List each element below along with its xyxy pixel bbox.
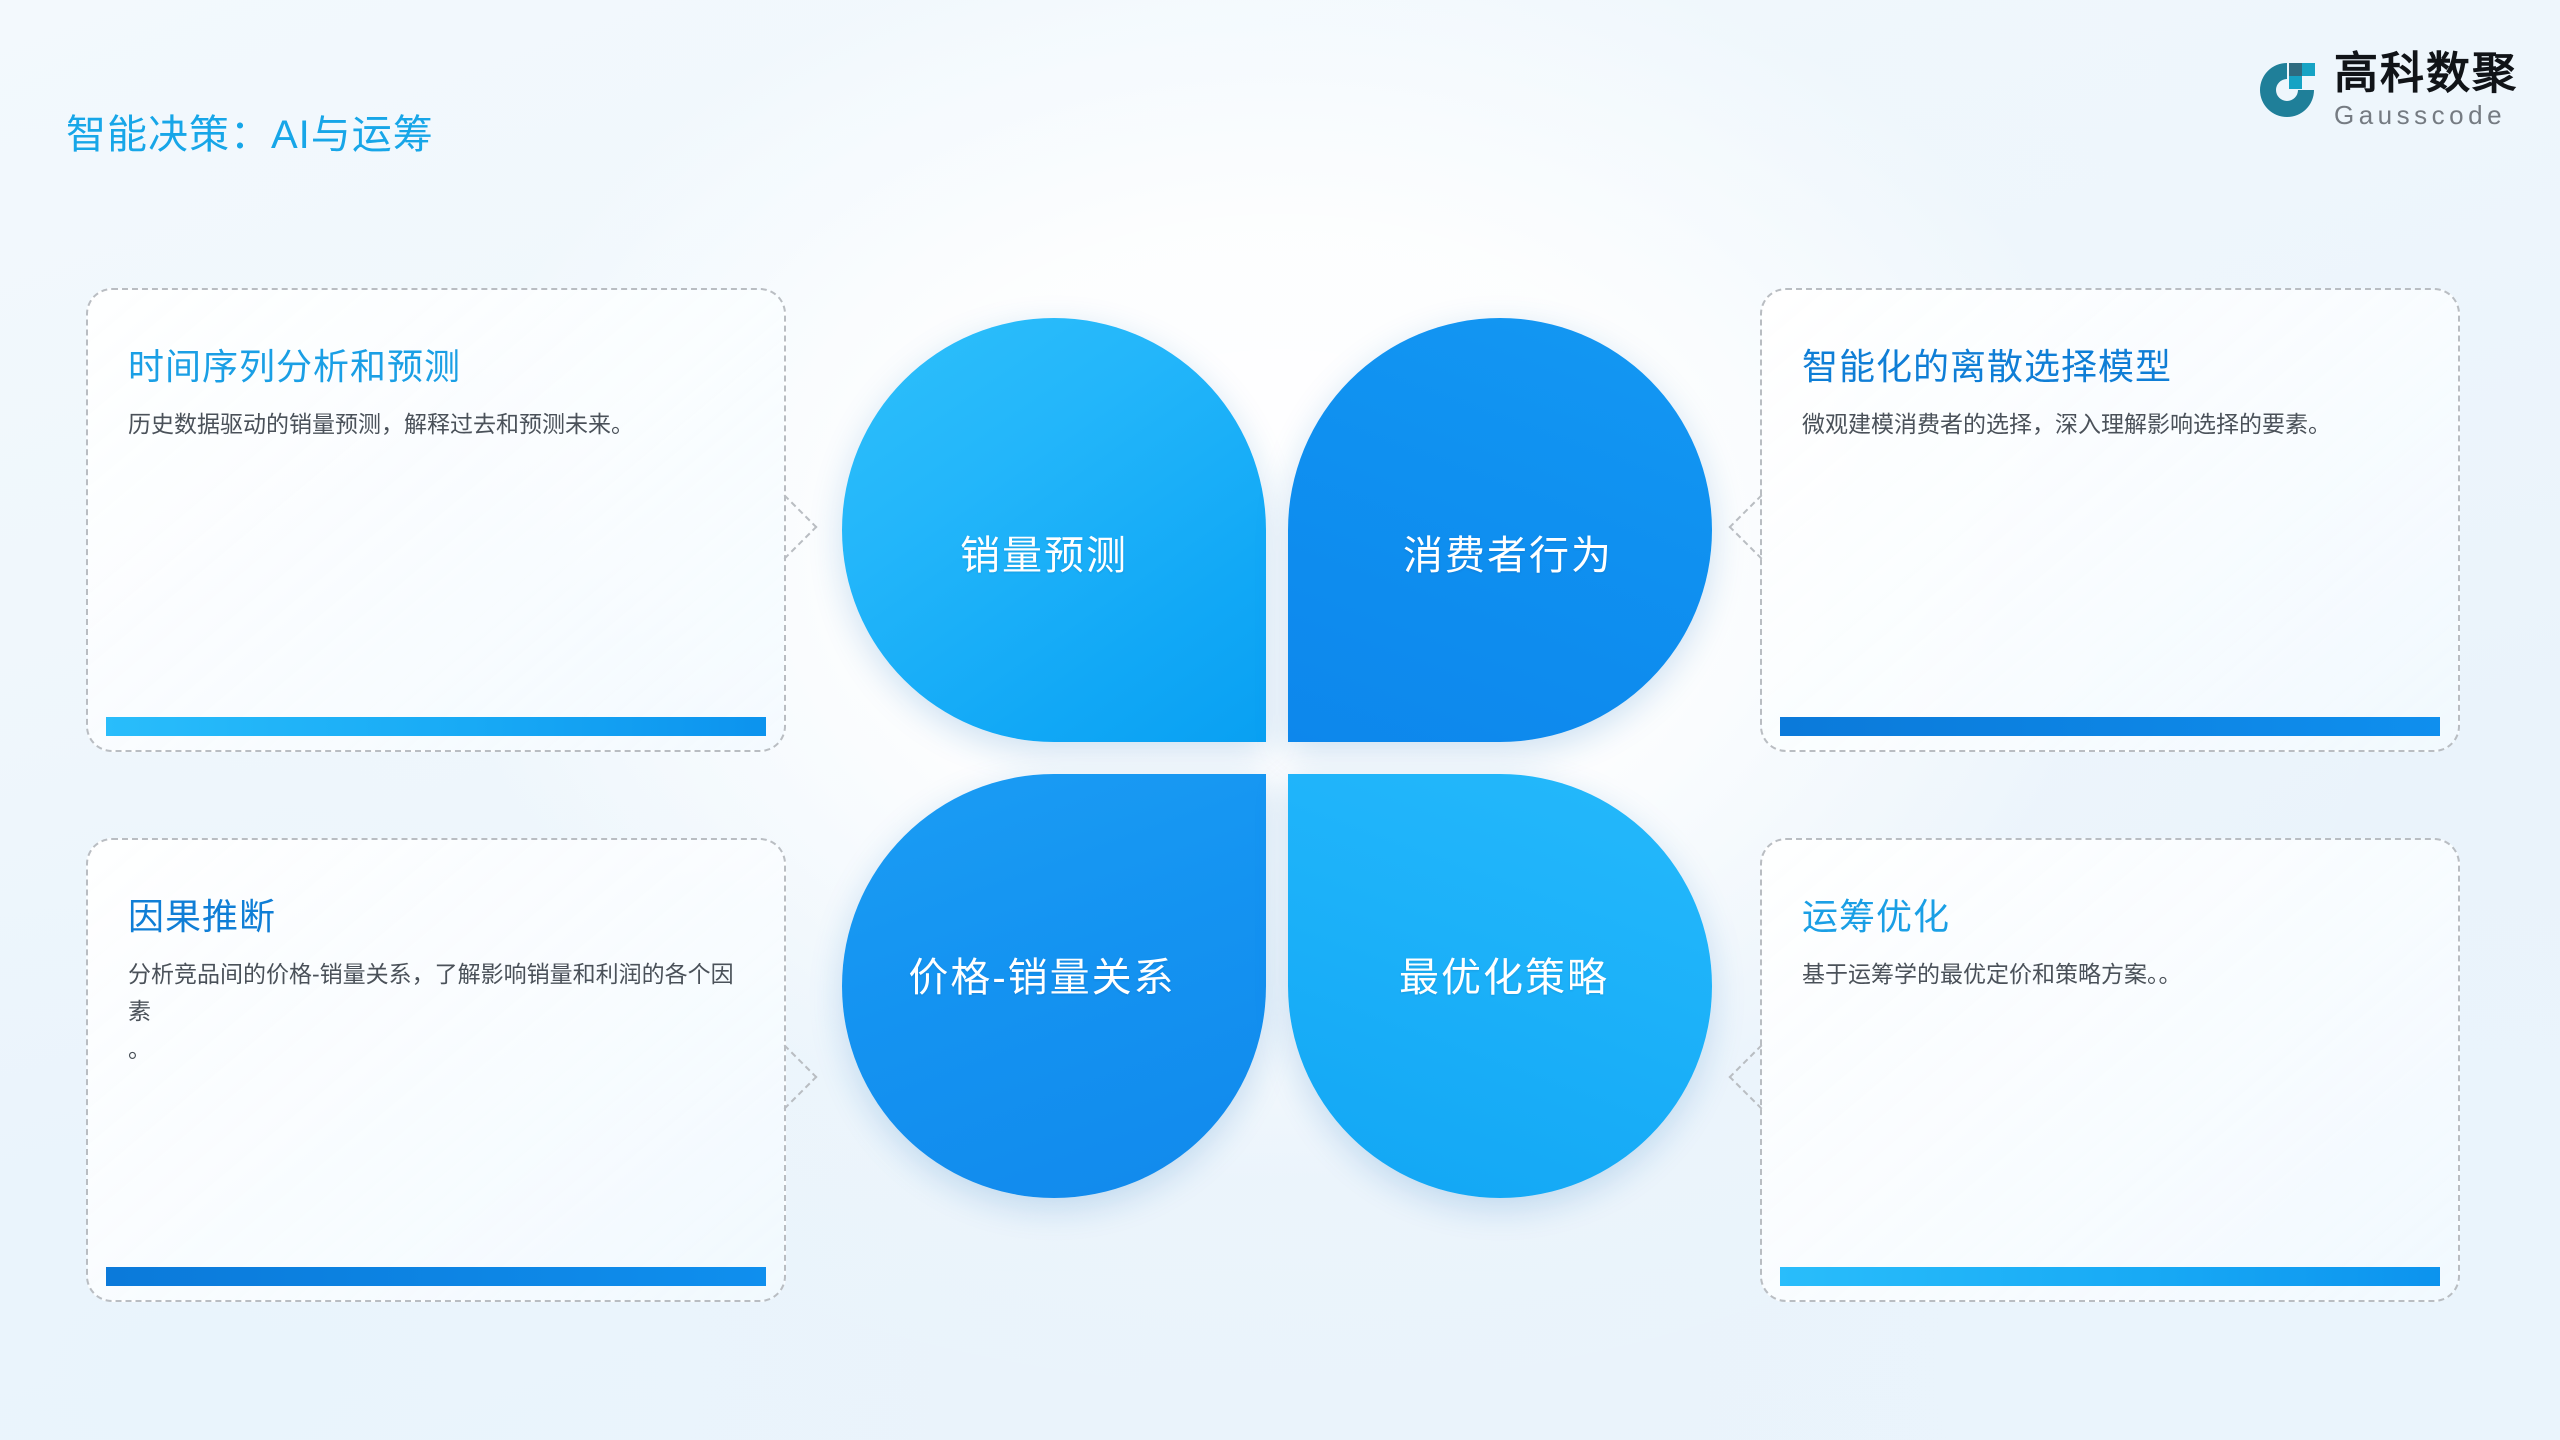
petal-consumer-behavior[interactable]: 消费者行为 bbox=[1288, 318, 1712, 742]
petal-optimal-strategy[interactable]: 最优化策略 bbox=[1288, 774, 1712, 1198]
card-description: 分析竞品间的价格-销量关系，了解影响销量和利润的各个因素 。 bbox=[128, 956, 744, 1068]
card-title: 运筹优化 bbox=[1802, 888, 2418, 940]
petal-label: 销量预测 bbox=[960, 523, 1128, 581]
card-accent-bar bbox=[1780, 1267, 2440, 1286]
card-body: 时间序列分析和预测 历史数据驱动的销量预测，解释过去和预测未来。 bbox=[88, 290, 784, 443]
card-body: 因果推断 分析竞品间的价格-销量关系，了解影响销量和利润的各个因素 。 bbox=[88, 840, 784, 1068]
logo-name-en: Gausscode bbox=[2334, 102, 2518, 128]
card-description: 微观建模消费者的选择，深入理解影响选择的要素。 bbox=[1802, 406, 2418, 443]
card-accent-bar bbox=[106, 717, 766, 736]
petal-label: 最优化策略 bbox=[1399, 945, 1609, 1003]
card-accent-bar bbox=[1780, 717, 2440, 736]
card-operations-optimization[interactable]: 运筹优化 基于运筹学的最优定价和策略方案。。 bbox=[1760, 838, 2460, 1302]
chevron-right-icon bbox=[752, 494, 817, 559]
petal-label: 消费者行为 bbox=[1403, 523, 1613, 581]
card-causal-inference[interactable]: 因果推断 分析竞品间的价格-销量关系，了解影响销量和利润的各个因素 。 bbox=[86, 838, 786, 1302]
card-body: 运筹优化 基于运筹学的最优定价和策略方案。。 bbox=[1762, 840, 2458, 993]
card-title: 时间序列分析和预测 bbox=[128, 338, 744, 390]
gausscode-g-logo-icon bbox=[2256, 59, 2318, 121]
card-accent-bar bbox=[106, 1267, 766, 1286]
brand-logo: 高科数聚 Gausscode bbox=[2256, 52, 2518, 128]
chevron-left-icon bbox=[1728, 494, 1793, 559]
card-body: 智能化的离散选择模型 微观建模消费者的选择，深入理解影响选择的要素。 bbox=[1762, 290, 2458, 443]
slide-canvas: 智能决策：AI与运筹 高科数聚 Gausscode 销量预测 消费者行为 价格-… bbox=[0, 0, 2560, 1440]
card-description: 基于运筹学的最优定价和策略方案。。 bbox=[1802, 956, 2418, 993]
chevron-left-icon bbox=[1728, 1044, 1793, 1109]
petal-price-sales-relation[interactable]: 价格-销量关系 bbox=[842, 774, 1266, 1198]
card-discrete-choice[interactable]: 智能化的离散选择模型 微观建模消费者的选择，深入理解影响选择的要素。 bbox=[1760, 288, 2460, 752]
logo-name-cn: 高科数聚 bbox=[2334, 52, 2518, 96]
card-time-series[interactable]: 时间序列分析和预测 历史数据驱动的销量预测，解释过去和预测未来。 bbox=[86, 288, 786, 752]
logo-wordmark: 高科数聚 Gausscode bbox=[2334, 52, 2518, 128]
page-title: 智能决策：AI与运筹 bbox=[66, 102, 434, 160]
card-title: 因果推断 bbox=[128, 888, 744, 940]
card-description: 历史数据驱动的销量预测，解释过去和预测未来。 bbox=[128, 406, 744, 443]
center-clover-diagram: 销量预测 消费者行为 价格-销量关系 最优化策略 bbox=[842, 318, 1712, 1198]
petal-sales-forecast[interactable]: 销量预测 bbox=[842, 318, 1266, 742]
petal-label: 价格-销量关系 bbox=[908, 945, 1175, 1003]
card-title: 智能化的离散选择模型 bbox=[1802, 338, 2418, 390]
